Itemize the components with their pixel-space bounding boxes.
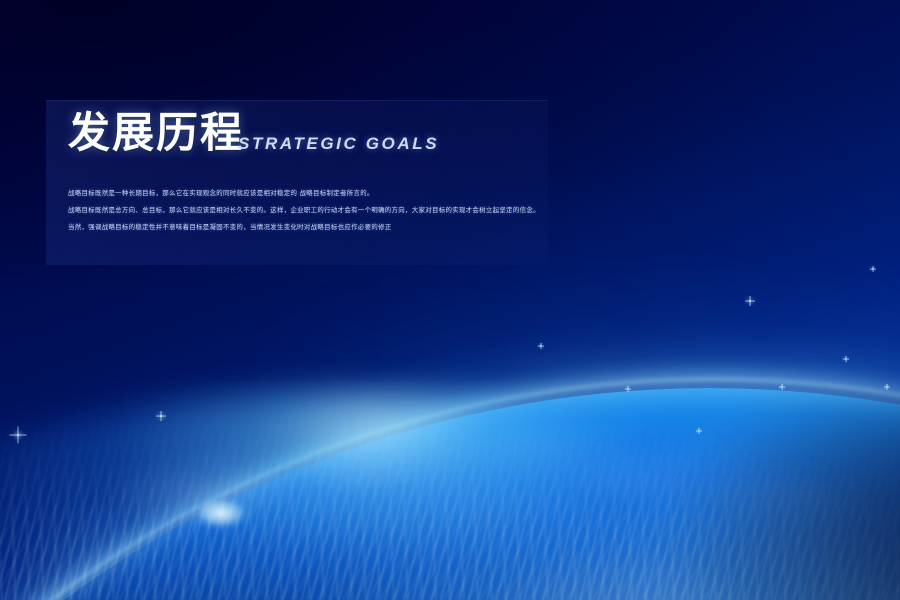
body-line: 当然，强调战略目标的稳定性并不意味着目标是凝固不变的，当情况发生变化时对战略目标…: [68, 219, 588, 236]
page-title-en: STRATEGIC GOALS: [238, 134, 439, 154]
page-title-cn: 发展历程: [68, 112, 244, 154]
title-row: 发展历程 STRATEGIC GOALS: [68, 112, 439, 154]
hero-banner: 发展历程 STRATEGIC GOALS 战略目标既然是一种长期目标，那么它在实…: [0, 0, 900, 600]
earth-scene: [0, 0, 900, 600]
body-paragraph: 战略目标既然是一种长期目标，那么它在实现观念的同时就应该是相对稳定的 战略目标制…: [68, 185, 588, 236]
earth-terminator-shadow: [470, 400, 900, 600]
body-line: 战略目标既然是总方向、总目标，那么它就应该是相对长久不变的。这样，企业职工的行动…: [68, 202, 588, 219]
headline-panel: 发展历程 STRATEGIC GOALS 战略目标既然是一种长期目标，那么它在实…: [46, 100, 548, 265]
body-line: 战略目标既然是一种长期目标，那么它在实现观念的同时就应该是相对稳定的 战略目标制…: [68, 185, 588, 202]
